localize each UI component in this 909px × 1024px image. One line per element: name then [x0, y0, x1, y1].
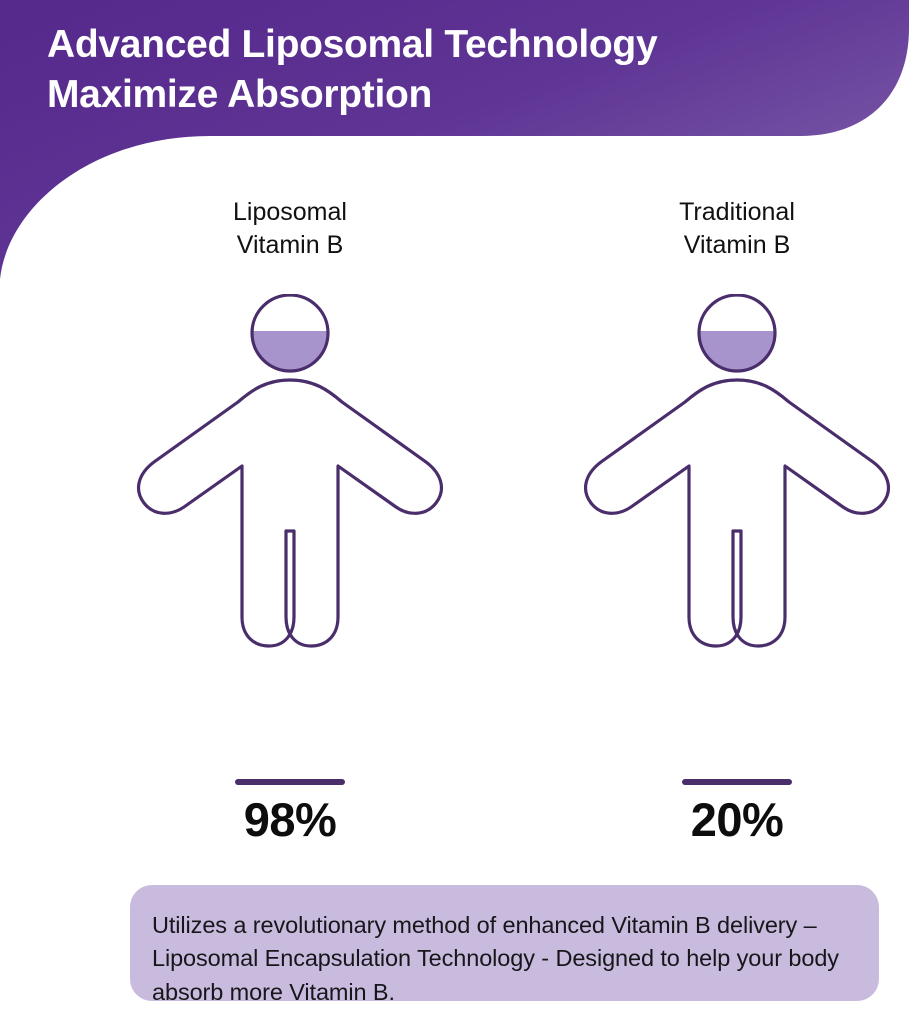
percent-value-liposomal: 98% [90, 792, 490, 847]
footer-note-panel: Utilizes a revolutionary method of enhan… [130, 885, 879, 1001]
meter-bar-liposomal [235, 779, 345, 785]
meter-bar-traditional [682, 779, 792, 785]
column-label-traditional: Traditional Vitamin B [537, 196, 909, 261]
comparison-column-traditional: Traditional Vitamin B [537, 196, 909, 856]
percent-value-traditional: 20% [537, 792, 909, 847]
comparison-column-liposomal: Liposomal Vitamin B [90, 196, 490, 856]
footer-note-text: Utilizes a revolutionary method of enhan… [152, 909, 857, 1009]
body-figure-liposomal [90, 294, 490, 769]
infographic-root: Advanced Liposomal Technology Maximize A… [0, 0, 909, 1024]
page-title: Advanced Liposomal Technology Maximize A… [47, 20, 837, 119]
body-figure-traditional [537, 294, 909, 769]
column-label-liposomal: Liposomal Vitamin B [90, 196, 490, 261]
comparison-columns: Liposomal Vitamin B [0, 196, 909, 856]
